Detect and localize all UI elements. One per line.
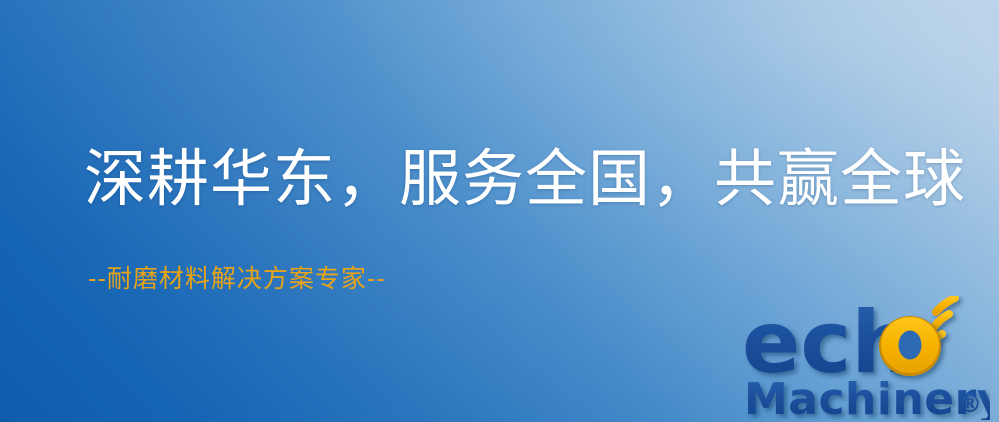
banner-headline: 深耕华东，服务全国，共赢全球 — [84, 148, 966, 210]
banner-subtitle: --耐磨材料解决方案专家-- — [88, 266, 386, 291]
echo-machinery-logo[interactable]: ech Machinery ® — [742, 296, 990, 420]
registered-trademark-icon: ® — [958, 390, 982, 418]
promo-banner: 深耕华东，服务全国，共赢全球 --耐磨材料解决方案专家-- — [0, 0, 999, 422]
logo-tagline: Machinery — [744, 374, 990, 420]
logo-letter-o — [879, 316, 941, 376]
logo-artwork: ech Machinery ® — [742, 296, 990, 420]
